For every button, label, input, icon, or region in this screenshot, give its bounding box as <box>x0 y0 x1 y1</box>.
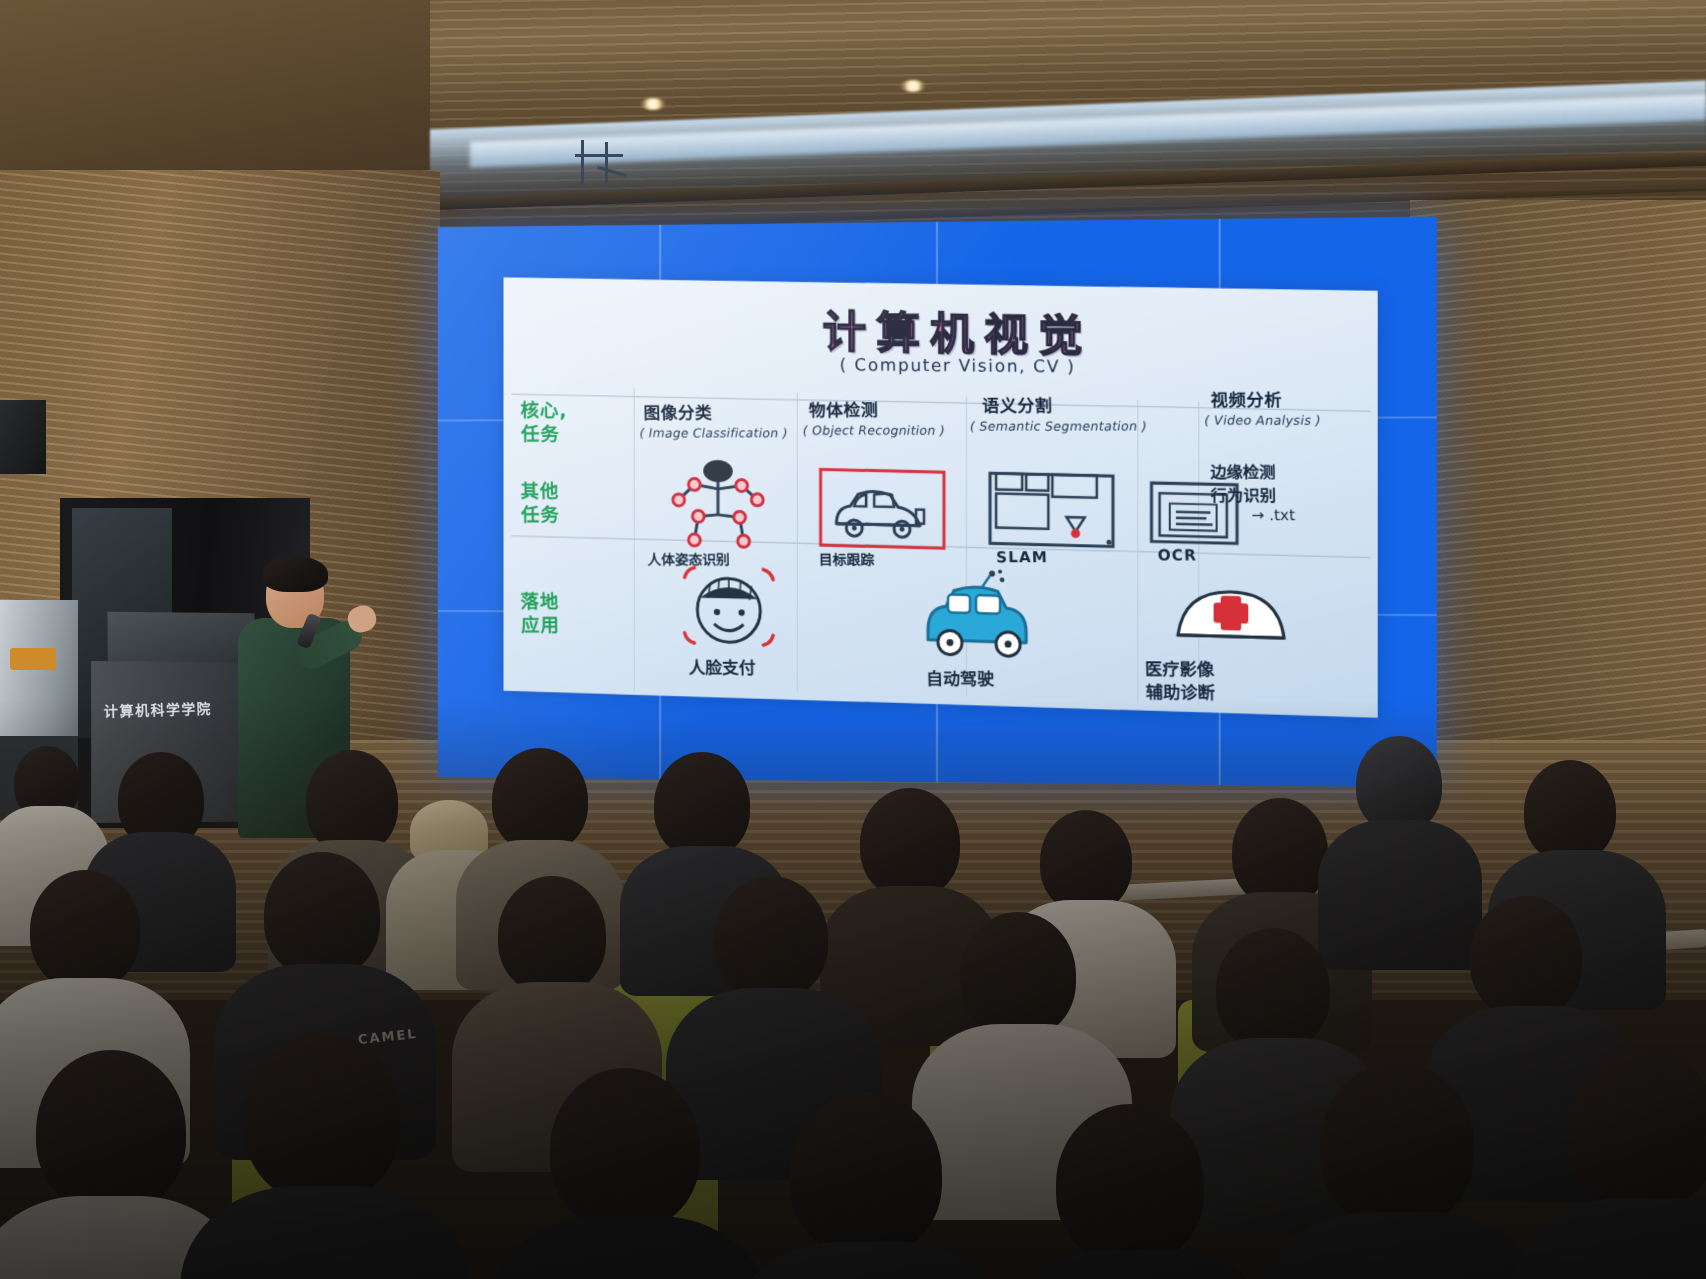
slide-col-div-1 <box>634 388 635 691</box>
ocr-output-arrow: → .txt <box>1251 506 1295 524</box>
nurse-cap-cross-icon <box>1170 578 1293 648</box>
core-task-1-zh: 图像分类 <box>643 399 712 424</box>
application-caption-3: 医疗影像辅助诊断 <box>1145 659 1215 706</box>
lecture-hall-photo: 计算机视觉 ( Computer Vision, CV ) 核心,任务 图像分类… <box>0 0 1706 1279</box>
core-task-3-en: ( Semantic Segmentation ) <box>970 418 1147 433</box>
other-task-caption-4: OCR <box>1157 546 1197 564</box>
application-caption-1: 人脸支付 <box>688 654 755 679</box>
slide-col-div-2 <box>797 393 798 692</box>
row-label-applications: 落地应用 <box>520 591 560 638</box>
blue-car-icon <box>916 568 1046 668</box>
floorplan-slam-icon <box>986 467 1117 555</box>
other-task-caption-3: SLAM <box>996 548 1048 566</box>
audience: CAMEL <box>0 700 1706 1279</box>
other-task-caption-2: 目标跟踪 <box>818 550 874 570</box>
car-bounding-box-icon <box>819 467 946 550</box>
other-tasks-side-notes: 边缘检测行为识别 <box>1210 461 1276 508</box>
core-task-2-en: ( Object Recognition ) <box>803 423 946 438</box>
row-label-other-tasks: 其他任务 <box>520 481 560 528</box>
slide-subtitle: ( Computer Vision, CV ) <box>743 355 1173 378</box>
application-caption-2: 自动驾驶 <box>926 665 995 690</box>
core-task-4-zh: 视频分析 <box>1210 386 1282 412</box>
wall-speaker-box <box>0 400 46 474</box>
water-cooler-tap <box>10 648 56 670</box>
audience-shading <box>0 700 1706 1279</box>
ceiling-hanger-bracket <box>575 140 635 188</box>
downlight-5 <box>640 98 666 110</box>
pose-skeleton-icon <box>659 458 777 552</box>
slide-whiteboard: 计算机视觉 ( Computer Vision, CV ) 核心,任务 图像分类… <box>503 277 1377 718</box>
core-task-4-en: ( Video Analysis ) <box>1204 413 1321 428</box>
core-task-2-zh: 物体检测 <box>808 396 878 421</box>
slide-col-div-4 <box>1137 400 1138 702</box>
downlight-6 <box>900 80 926 92</box>
core-task-3-zh: 语义分割 <box>982 391 1053 416</box>
speaker-hair <box>262 556 328 592</box>
row-label-core-tasks: 核心,任务 <box>520 400 568 447</box>
core-task-1-en: ( Image Classification ) <box>639 425 787 440</box>
face-detection-icon <box>675 559 783 653</box>
